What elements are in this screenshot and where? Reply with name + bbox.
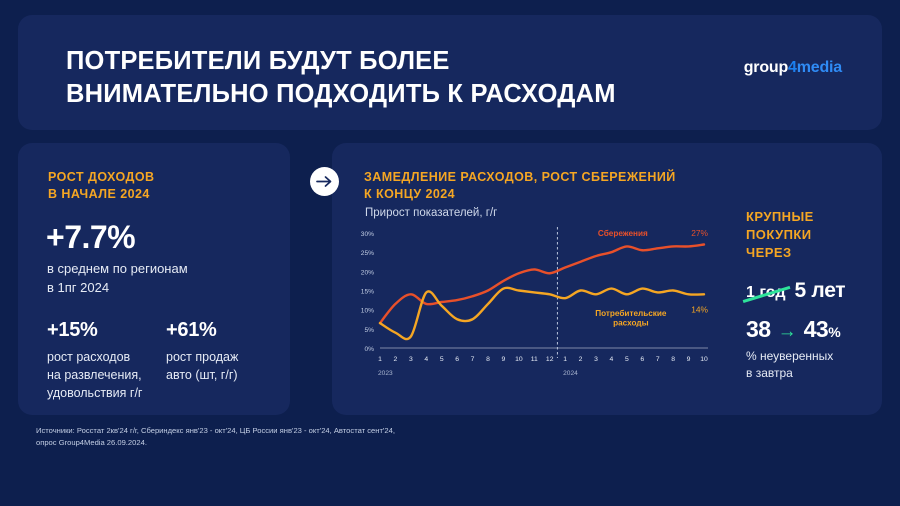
svg-text:12: 12 bbox=[546, 356, 554, 363]
svg-text:10: 10 bbox=[515, 356, 523, 363]
svg-text:10%: 10% bbox=[361, 308, 374, 315]
arrow-right-small-icon: → bbox=[778, 322, 797, 341]
uncertainty-to-percent: % bbox=[828, 324, 840, 340]
uncertainty-from-value: 38 bbox=[746, 316, 771, 343]
logo-text-group: group bbox=[744, 59, 788, 76]
svg-text:30%: 30% bbox=[361, 231, 374, 238]
chart-panel-heading: ЗАМЕДЛЕНИЕ РАСХОДОВ, РОСТ СБЕРЕЖЕНИЙ К К… bbox=[364, 169, 676, 203]
uncertainty-label: % неуверенных в завтра bbox=[746, 348, 886, 382]
svg-text:Потребительские: Потребительские bbox=[595, 308, 667, 318]
logo-text-media: media bbox=[797, 59, 842, 76]
svg-text:15%: 15% bbox=[361, 289, 374, 296]
svg-text:расходы: расходы bbox=[613, 318, 648, 327]
header-panel: ПОТРЕБИТЕЛИ БУДУТ БОЛЕЕ ВНИМАТЕЛЬНО ПОДХ… bbox=[18, 15, 882, 130]
svg-text:2023: 2023 bbox=[378, 370, 393, 377]
svg-text:2: 2 bbox=[579, 356, 583, 363]
sub-stat-entertainment-label: рост расходов на развлечения, удовольств… bbox=[47, 349, 143, 402]
svg-text:1: 1 bbox=[378, 356, 382, 363]
purchase-horizon-old: 1 год bbox=[746, 284, 786, 302]
uncertainty-change-row: 38 → 43% bbox=[746, 316, 886, 343]
svg-text:5: 5 bbox=[625, 356, 629, 363]
svg-text:9: 9 bbox=[502, 356, 506, 363]
svg-text:0%: 0% bbox=[364, 346, 374, 353]
svg-text:25%: 25% bbox=[361, 250, 374, 257]
svg-text:9: 9 bbox=[687, 356, 691, 363]
uncertainty-to-number: 43 bbox=[804, 316, 829, 342]
sub-stat-auto-sales-label: рост продаж авто (шт, г/г) bbox=[166, 349, 238, 385]
svg-text:8: 8 bbox=[486, 356, 490, 363]
svg-text:1: 1 bbox=[563, 356, 567, 363]
sub-stat-auto-sales-value: +61% bbox=[166, 319, 238, 342]
svg-text:7: 7 bbox=[656, 356, 660, 363]
svg-text:8: 8 bbox=[671, 356, 675, 363]
svg-text:6: 6 bbox=[455, 356, 459, 363]
brand-logo: group4media bbox=[744, 59, 842, 77]
income-big-value: +7.7% bbox=[46, 219, 135, 256]
svg-text:5: 5 bbox=[440, 356, 444, 363]
svg-text:3: 3 bbox=[409, 356, 413, 363]
page-title: ПОТРЕБИТЕЛИ БУДУТ БОЛЕЕ ВНИМАТЕЛЬНО ПОДХ… bbox=[66, 45, 616, 111]
logo-text-four: 4 bbox=[788, 59, 797, 76]
svg-text:2024: 2024 bbox=[563, 370, 578, 377]
income-growth-panel: РОСТ ДОХОДОВ В НАЧАЛЕ 2024 +7.7% в средн… bbox=[18, 143, 290, 415]
chart-axis-note: Прирост показателей, г/г bbox=[365, 207, 497, 219]
svg-text:10: 10 bbox=[700, 356, 708, 363]
svg-text:Сбережения: Сбережения bbox=[598, 228, 648, 238]
svg-text:4: 4 bbox=[610, 356, 614, 363]
line-chart: 0%5%10%15%20%25%30%123456789101112123456… bbox=[350, 223, 730, 378]
svg-text:27%: 27% bbox=[691, 228, 708, 238]
uncertainty-to-value: 43% bbox=[804, 316, 841, 343]
purchase-horizon-row: 1 год 5 лет bbox=[746, 279, 886, 303]
income-big-label: в среднем по регионам в 1пг 2024 bbox=[47, 260, 188, 298]
sub-stat-auto-sales: +61% рост продаж авто (шт, г/г) bbox=[166, 319, 238, 385]
purchase-panel-heading: КРУПНЫЕ ПОКУПКИ ЧЕРЕЗ bbox=[746, 208, 886, 262]
svg-text:4: 4 bbox=[424, 356, 428, 363]
sources-footnote: Источники: Росстат 2кв'24 г/г, Сбериндек… bbox=[36, 425, 736, 449]
income-panel-heading: РОСТ ДОХОДОВ В НАЧАЛЕ 2024 bbox=[48, 169, 155, 203]
purchase-horizon-new: 5 лет bbox=[795, 279, 846, 303]
svg-text:14%: 14% bbox=[691, 305, 708, 315]
sub-stat-entertainment: +15% рост расходов на развлечения, удово… bbox=[47, 319, 143, 402]
svg-text:5%: 5% bbox=[364, 327, 374, 334]
svg-text:3: 3 bbox=[594, 356, 598, 363]
svg-text:6: 6 bbox=[640, 356, 644, 363]
large-purchases-panel: КРУПНЫЕ ПОКУПКИ ЧЕРЕЗ 1 год 5 лет 38 → 4… bbox=[746, 208, 886, 381]
sub-stat-entertainment-value: +15% bbox=[47, 319, 143, 342]
svg-text:11: 11 bbox=[531, 356, 538, 363]
svg-text:7: 7 bbox=[471, 356, 475, 363]
svg-text:20%: 20% bbox=[361, 269, 374, 276]
arrow-right-icon bbox=[310, 167, 339, 196]
svg-text:2: 2 bbox=[394, 356, 398, 363]
